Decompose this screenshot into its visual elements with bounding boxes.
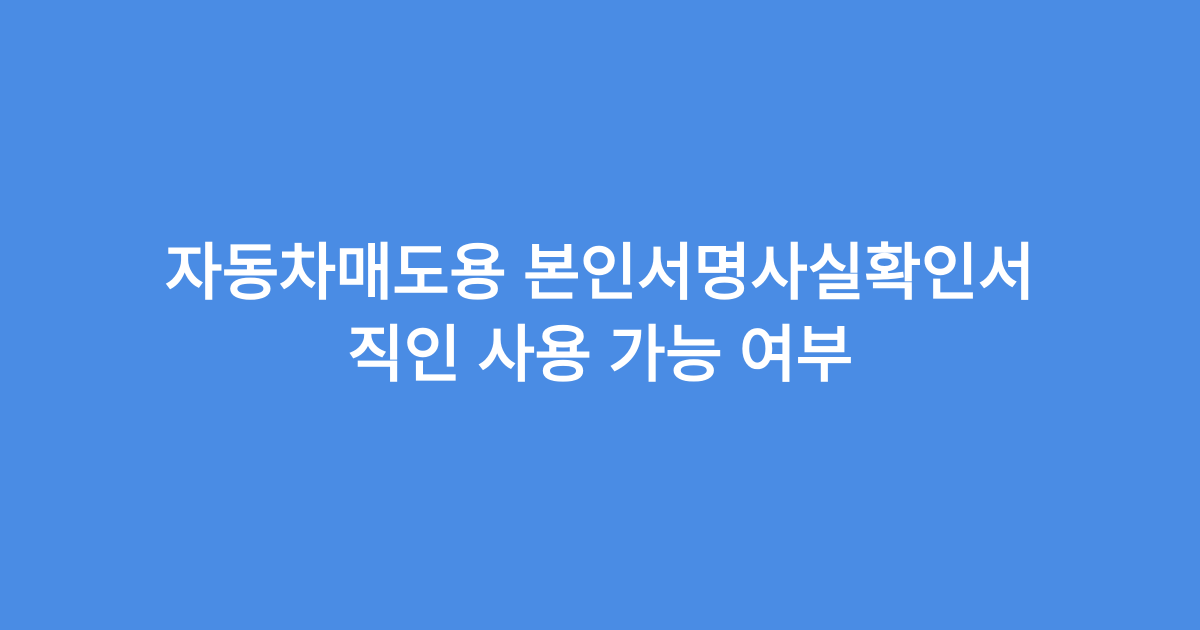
title-line-1: 자동차매도용 본인서명사실확인서: [165, 233, 1035, 315]
title-card: 자동차매도용 본인서명사실확인서 직인 사용 가능 여부: [0, 0, 1200, 630]
title-line-2: 직인 사용 가능 여부: [347, 315, 853, 397]
page-title: 자동차매도용 본인서명사실확인서 직인 사용 가능 여부: [70, 233, 1130, 397]
